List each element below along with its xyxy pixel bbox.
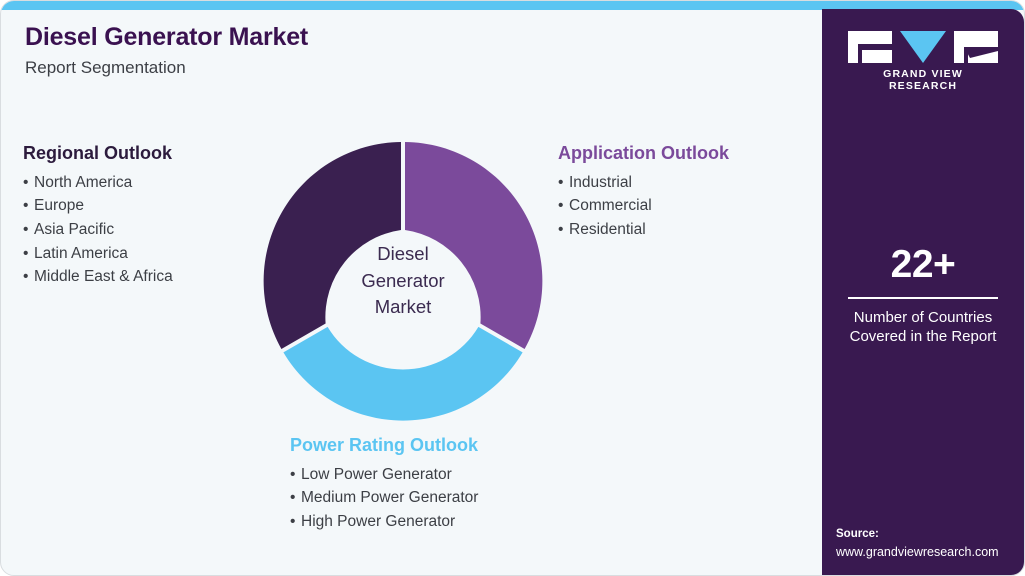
power-rating-outlook-block: Power Rating Outlook •Low Power Generato… [290,435,478,534]
bullet-icon: • [290,463,301,487]
stat-caption-line-2: Covered in the Report [822,327,1024,347]
page-title: Diesel Generator Market [25,23,785,52]
power-rating-outlook-heading: Power Rating Outlook [290,435,478,457]
source-url[interactable]: www.grandviewresearch.com [836,543,1022,561]
list-item: •Asia Pacific [23,218,173,242]
list-item: •High Power Generator [290,510,478,534]
bullet-icon: • [558,218,569,242]
list-item: •Middle East & Africa [23,265,173,289]
stat-caption: Number of Countries Covered in the Repor… [822,308,1024,347]
list-item: •Low Power Generator [290,463,478,487]
countries-stat: 22+ Number of Countries Covered in the R… [822,245,1024,347]
side-panel: GRAND VIEW RESEARCH 22+ Number of Countr… [822,9,1024,576]
donut-chart-svg [259,137,547,425]
donut-segment-power-rating[interactable] [283,327,522,421]
gvr-logo-mark-icon [848,31,998,63]
stat-divider [848,297,998,299]
source-label: Source: [836,526,1022,543]
list-item: •Medium Power Generator [290,486,478,510]
donut-segment-regional[interactable] [264,142,401,349]
list-item: •Commercial [558,194,729,218]
application-outlook-list: •Industrial •Commercial •Residential [558,171,729,242]
list-item-label: High Power Generator [301,513,455,530]
list-item-label: Residential [569,221,646,238]
list-item-label: Europe [34,197,84,214]
regional-outlook-list: •North America •Europe •Asia Pacific •La… [23,171,173,290]
power-rating-outlook-list: •Low Power Generator •Medium Power Gener… [290,463,478,534]
list-item-label: Low Power Generator [301,466,452,483]
list-item: •Latin America [23,242,173,266]
list-item-label: Industrial [569,174,632,191]
bullet-icon: • [290,486,301,510]
header: Diesel Generator Market Report Segmentat… [25,23,785,77]
list-item: •Europe [23,194,173,218]
bullet-icon: • [23,265,34,289]
list-item-label: North America [34,174,132,191]
bullet-icon: • [558,194,569,218]
list-item: •Industrial [558,171,729,195]
list-item: •North America [23,171,173,195]
list-item-label: Latin America [34,245,128,262]
regional-outlook-heading: Regional Outlook [23,143,173,165]
grand-view-research-logo: GRAND VIEW RESEARCH [848,31,998,92]
bullet-icon: • [23,194,34,218]
list-item: •Residential [558,218,729,242]
list-item-label: Commercial [569,197,652,214]
list-item-label: Asia Pacific [34,221,114,238]
infographic-poster: Diesel Generator Market Report Segmentat… [0,0,1025,576]
bullet-icon: • [290,510,301,534]
list-item-label: Medium Power Generator [301,489,478,506]
source-block: Source: www.grandviewresearch.com [836,526,1022,561]
bullet-icon: • [23,218,34,242]
list-item-label: Middle East & Africa [34,268,173,285]
regional-outlook-block: Regional Outlook •North America •Europe … [23,143,173,289]
logo-wordmark: GRAND VIEW RESEARCH [848,68,998,92]
application-outlook-heading: Application Outlook [558,143,729,165]
bullet-icon: • [23,242,34,266]
bullet-icon: • [23,171,34,195]
stat-number: 22+ [822,245,1024,284]
bullet-icon: • [558,171,569,195]
donut-chart: Diesel Generator Market [259,137,547,425]
donut-segment-application[interactable] [405,142,542,349]
stat-caption-line-1: Number of Countries [822,308,1024,328]
page-subtitle: Report Segmentation [25,58,785,78]
application-outlook-block: Application Outlook •Industrial •Commerc… [558,143,729,242]
